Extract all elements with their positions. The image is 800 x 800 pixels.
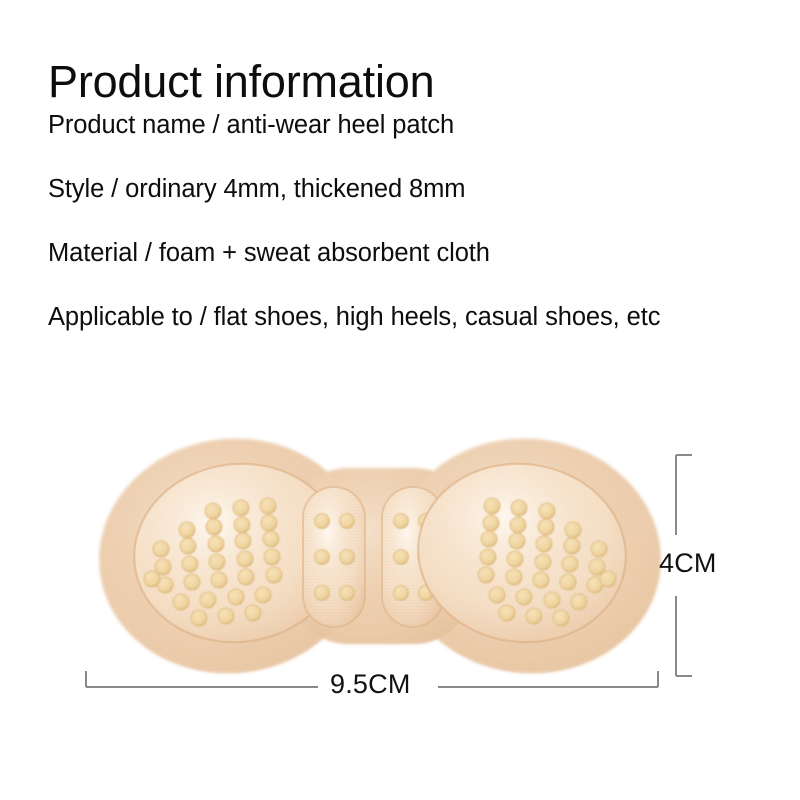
spec-line-applicable-to: Applicable to / flat shoes, high heels, … [48,304,778,330]
center-pad-right-dots [394,514,434,601]
dimension-height-label: 4CM [659,550,717,577]
dimension-width-label: 9.5CM [330,671,411,698]
spec-line-material: Material / foam + sweat absorbent cloth [48,240,778,266]
dimension-annotations [86,455,692,687]
left-oval-rim [86,424,379,689]
center-pad-left-dots [315,514,355,601]
left-pad-dot-cluster [144,498,282,626]
right-pad-dot-cluster [478,498,616,626]
center-pad-left [303,487,365,627]
heel-patch-body [86,424,675,689]
spec-line-product-name: Product name / anti-wear heel patch [48,112,778,138]
left-oval-pad [124,452,352,654]
page-title: Product information [48,56,434,108]
spec-list: Product name / anti-wear heel patch Styl… [48,112,778,368]
spec-line-style: Style / ordinary 4mm, thickened 8mm [48,176,778,202]
right-oval-pad [408,452,636,654]
center-pad-right [382,487,444,627]
center-bridge [290,468,472,644]
right-oval-rim [382,424,675,689]
